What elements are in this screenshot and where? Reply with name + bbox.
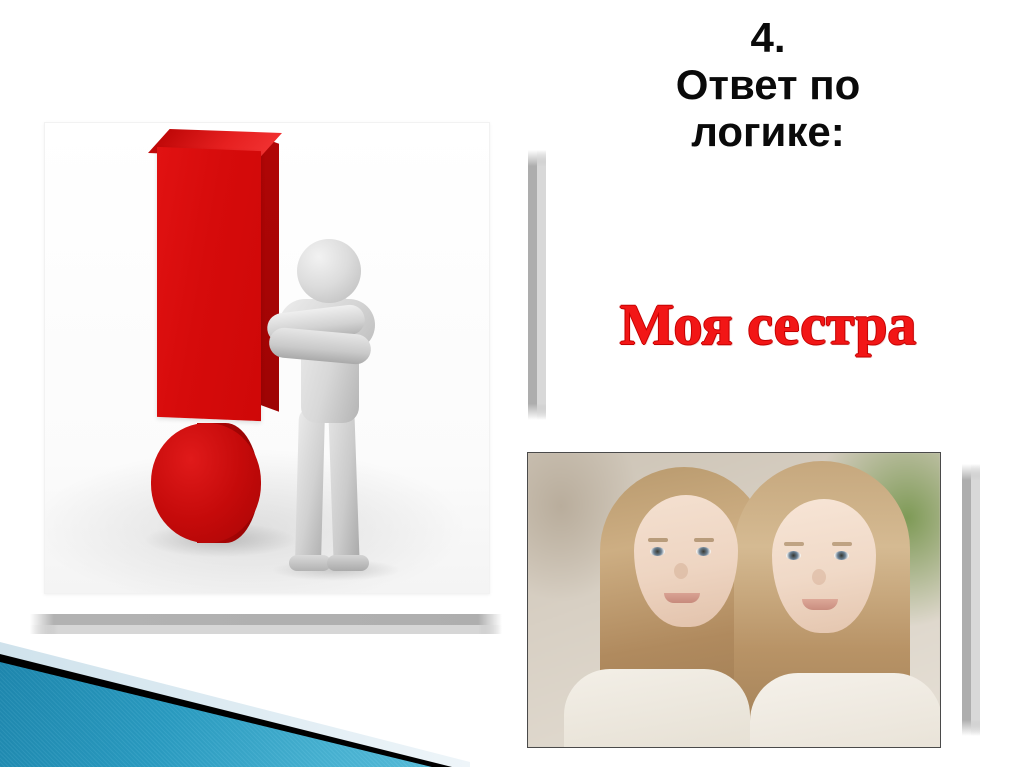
sisters-photo bbox=[527, 452, 941, 748]
slide-canvas: 4. Ответ по логике: Моя сестра bbox=[0, 0, 1024, 767]
girl-left-mouth bbox=[664, 593, 700, 603]
figure-foot-left bbox=[289, 555, 331, 571]
girl-left-eyebrow-right bbox=[694, 538, 714, 542]
girl-right-body bbox=[750, 673, 941, 748]
exclamation-figure-image bbox=[44, 122, 490, 594]
girl-right-eyebrow-left bbox=[784, 542, 804, 546]
vertical-divider-bar-middle bbox=[528, 150, 546, 420]
title-line-third: логике: bbox=[540, 108, 996, 155]
decoration-light-blue-band bbox=[0, 612, 470, 767]
decoration-black-stripe bbox=[0, 612, 470, 767]
figure-leg-left bbox=[295, 407, 325, 568]
girl-left-eyebrow-left bbox=[648, 538, 668, 542]
title-line-second: Ответ по bbox=[540, 61, 996, 108]
corner-decoration bbox=[0, 612, 470, 767]
exclamation-bar-front-face bbox=[157, 147, 261, 421]
page-title: 4. Ответ по логике: bbox=[540, 14, 996, 155]
girl-left-eye-left bbox=[650, 547, 665, 556]
title-line-number: 4. bbox=[540, 14, 996, 61]
girl-right-mouth bbox=[802, 599, 838, 610]
girl-left-nose bbox=[674, 563, 688, 579]
figure-head bbox=[297, 239, 361, 303]
figure-foot-right bbox=[327, 555, 369, 571]
answer-text: Моя сестра bbox=[540, 296, 996, 354]
vertical-divider-bar-right bbox=[962, 464, 980, 736]
girl-left-body bbox=[564, 669, 750, 748]
figure-leg-right bbox=[328, 407, 360, 568]
girl-right-eye-left bbox=[786, 551, 801, 560]
girl-right-nose bbox=[812, 569, 826, 585]
girl-right-eyebrow-right bbox=[832, 542, 852, 546]
girl-right-eye-right bbox=[834, 551, 849, 560]
exclamation-figure-canvas bbox=[45, 123, 489, 593]
girl-left-eye-right bbox=[696, 547, 711, 556]
horizontal-divider-bar bbox=[30, 614, 502, 634]
exclamation-dot-front-face bbox=[151, 423, 261, 543]
decoration-teal-triangle bbox=[0, 612, 470, 767]
